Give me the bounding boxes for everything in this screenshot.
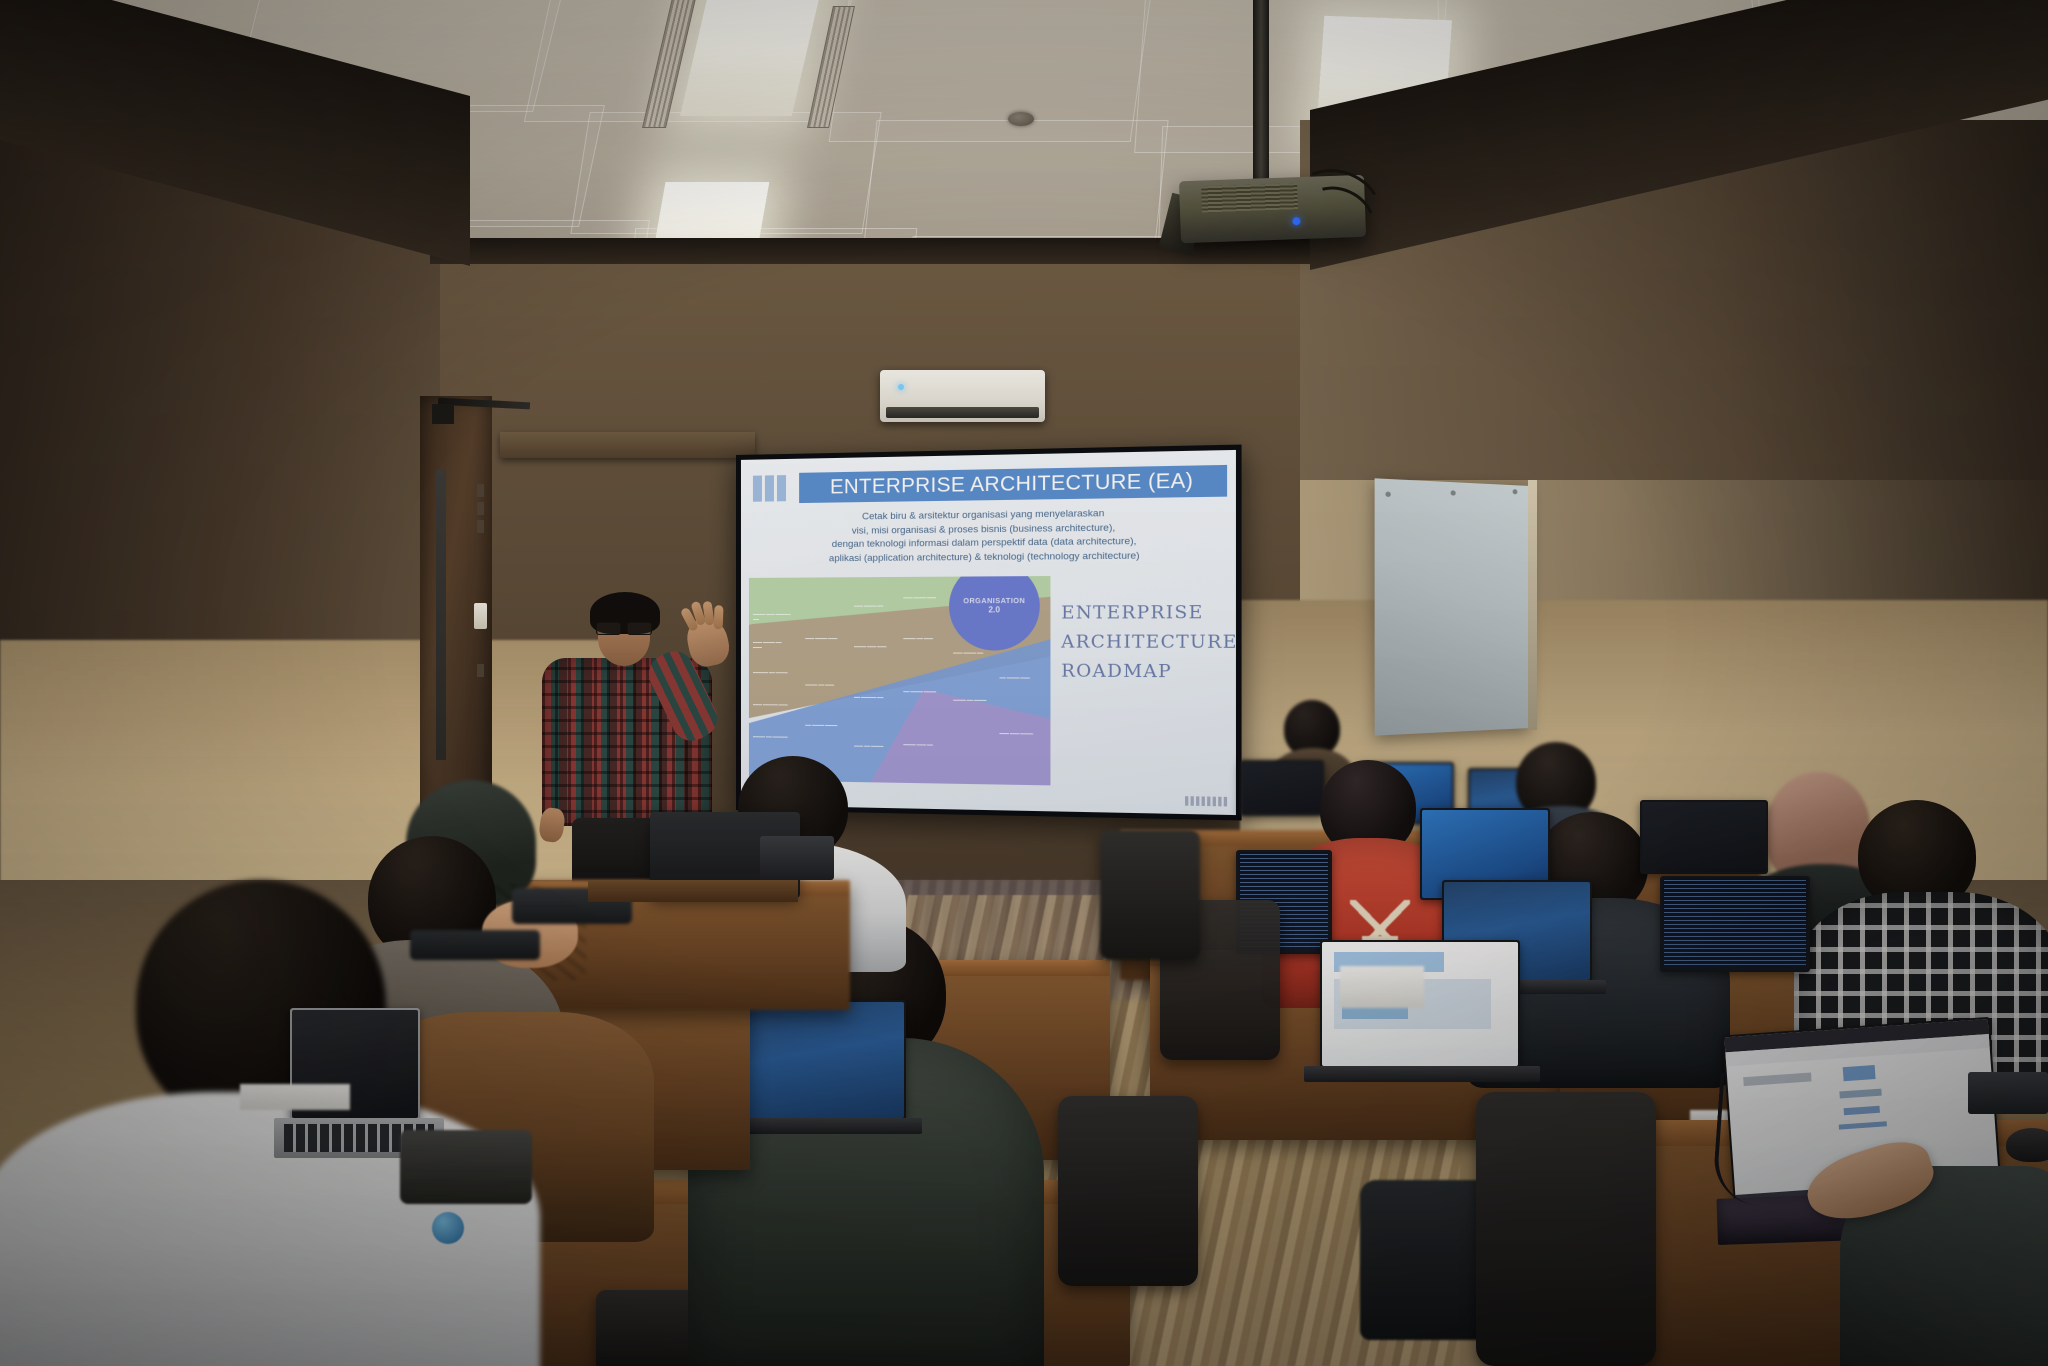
paper-sheet	[240, 1084, 350, 1110]
diagram-label: ▬▬▬ ▬▬▬▬▬ ▬▬▬	[753, 702, 791, 707]
water-bottle-cap[interactable]	[432, 1212, 464, 1244]
docking-station	[1968, 1072, 2048, 1114]
classroom-photo-scene: ENTERPRISE ARCHITECTURE (EA) Cetak biru …	[0, 0, 2048, 1366]
diagram-label: ▬▬▬ ▬▬▬▬ ▬▬ ▬▬▬	[753, 640, 791, 649]
door-vision-panel	[436, 470, 446, 760]
diagram-label: ▬▬ ▬▬▬▬▬ ▬▬	[854, 695, 893, 700]
door-hinge	[477, 520, 484, 533]
light-switch[interactable]	[474, 603, 487, 629]
split-ac-unit	[880, 370, 1045, 422]
door-hinge	[477, 502, 484, 515]
roadmap-line-1: ENTERPRISE	[1061, 598, 1225, 628]
projection-screen-valance	[500, 432, 755, 458]
diagram-label: ▬▬▬▬ ▬▬▬ ▬▬▬▬▬ ▬▬	[753, 612, 791, 621]
door-hinge	[477, 484, 484, 497]
mouse[interactable]	[2006, 1128, 2048, 1162]
accessory-pouch[interactable]	[400, 1130, 532, 1204]
whiteboard-edge	[1528, 480, 1537, 730]
door-closer-body	[432, 404, 454, 424]
laptop[interactable]	[1660, 876, 1810, 972]
slide-title-text: ENTERPRISE ARCHITECTURE (EA)	[830, 469, 1193, 499]
equipment-box	[760, 836, 834, 880]
whiteboard[interactable]	[1375, 478, 1530, 735]
slide-roadmap-headline: ENTERPRISE ARCHITECTURE ROADMAP	[1061, 598, 1225, 687]
diagram-circle-label-top: ORGANISATION	[963, 598, 1025, 605]
diagram-label: ▬▬▬▬ ▬▬▬ ▬▬▬	[854, 644, 893, 649]
laptop[interactable]	[1640, 800, 1768, 874]
whiteboard-screw	[1513, 489, 1518, 494]
slide-roadmap-diagram: ▬▬▬▬ ▬▬▬ ▬▬▬▬▬ ▬▬ ▬▬▬ ▬▬▬▬ ▬▬ ▬▬▬ ▬▬▬▬▬ …	[749, 576, 1051, 785]
diagram-label: ▬▬▬ ▬▬▬▬ ▬▬▬	[903, 595, 942, 600]
tablet[interactable]	[410, 930, 540, 960]
diagram-label: ▬▬▬ ▬▬ ▬▬▬▬	[854, 744, 893, 749]
diagram-label: ▬▬▬▬ ▬▬ ▬▬▬	[805, 682, 844, 687]
slide-decor-bars	[753, 475, 786, 502]
diagram-label: ▬▬▬ ▬▬▬▬ ▬▬	[953, 650, 993, 655]
name-card	[1340, 966, 1424, 1008]
door-hinge	[477, 664, 484, 677]
diagram-label: ▬▬ ▬▬▬▬ ▬▬▬▬	[805, 723, 844, 728]
projector-vent-grill	[1201, 183, 1298, 212]
smoke-detector-icon	[1008, 112, 1034, 126]
ac-led-icon	[898, 384, 904, 390]
slide-title-banner: ENTERPRISE ARCHITECTURE (EA)	[799, 465, 1227, 503]
diagram-circle-label-bottom: 2.0	[988, 605, 1000, 614]
diagram-label: ▬▬▬▬ ▬▬ ▬▬▬▬▬	[753, 734, 791, 739]
diagram-label: ▬▬▬▬ ▬▬ ▬▬▬	[903, 636, 942, 641]
whiteboard-screw	[1451, 490, 1456, 495]
roadmap-line-2: ARCHITECTURE	[1061, 628, 1225, 658]
diagram-label: ▬▬▬▬ ▬▬ ▬▬▬▬	[953, 698, 993, 703]
diagram-label: ▬▬ ▬▬▬▬ ▬▬▬▬	[903, 689, 942, 694]
diagram-label: ▬▬▬▬▬ ▬▬ ▬▬▬▬	[753, 670, 791, 675]
diagram-label: ▬▬▬▬ ▬▬▬ ▬▬	[903, 742, 942, 747]
diagram-label: ▬▬▬ ▬▬▬▬ ▬▬▬	[805, 636, 844, 641]
diagram-label: ▬▬▬ ▬▬▬▬ ▬▬	[854, 603, 893, 608]
office-chair[interactable]	[1100, 830, 1200, 960]
office-chair[interactable]	[1476, 1092, 1656, 1366]
office-chair[interactable]	[1058, 1096, 1198, 1286]
slide-body-text: Cetak biru & arsitektur organisasi yang …	[747, 505, 1229, 566]
diagram-label: ▬▬ ▬▬▬▬ ▬▬▬	[999, 675, 1039, 680]
slide-footer-logo	[1185, 796, 1227, 806]
presenter-table-top	[588, 880, 798, 902]
whiteboard-screw	[1385, 492, 1390, 498]
diagram-label: ▬▬▬ ▬▬▬ ▬▬▬▬	[999, 731, 1039, 736]
ac-air-vent	[886, 407, 1039, 418]
roadmap-line-3: ROADMAP	[1061, 657, 1225, 687]
projector-mount-pole	[1253, 0, 1269, 185]
glasses-icon	[596, 622, 652, 633]
